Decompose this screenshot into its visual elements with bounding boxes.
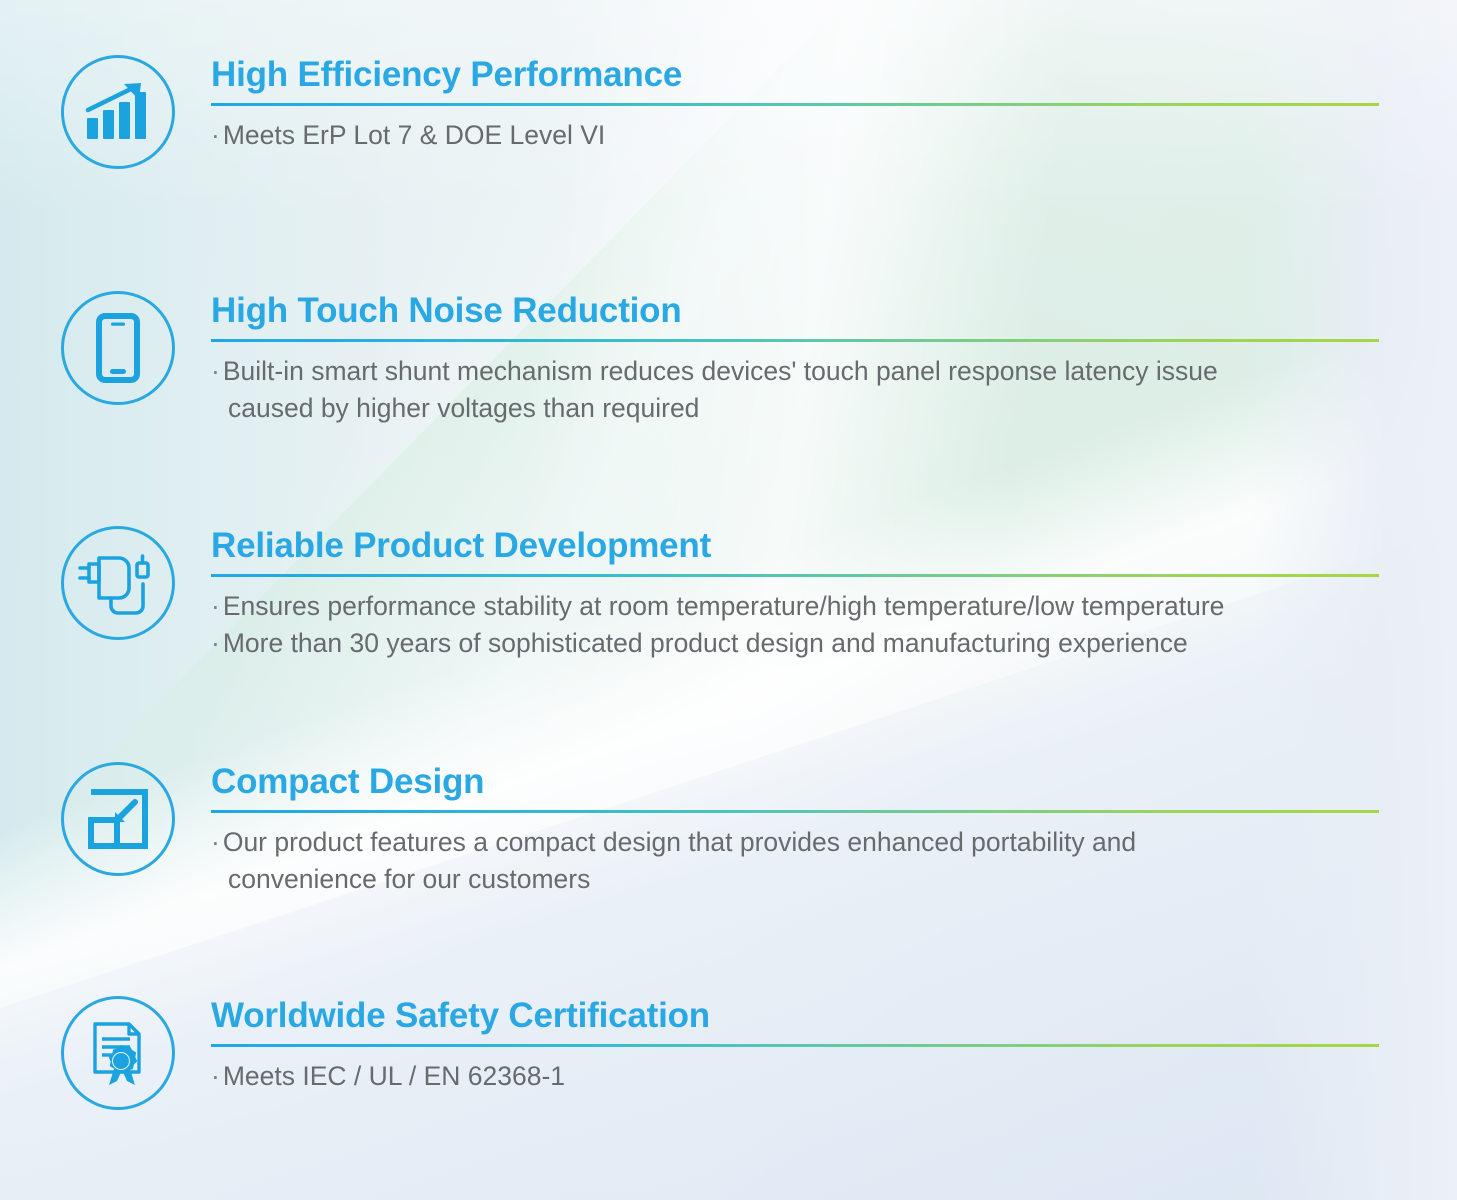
feature-body: Compact Design ·Our product features a c… xyxy=(211,762,1381,898)
feature-divider xyxy=(211,810,1379,813)
feature-body: Reliable Product Development ·Ensures pe… xyxy=(211,526,1381,662)
bullet-dot: · xyxy=(211,827,223,857)
compact-shrink-icon xyxy=(61,762,175,876)
feature-body: Worldwide Safety Certification ·Meets IE… xyxy=(211,996,1381,1095)
bullet-dot: · xyxy=(211,628,223,658)
feature-divider xyxy=(211,103,1379,106)
feature-line-text: More than 30 years of sophisticated prod… xyxy=(223,628,1188,658)
feature-title: Compact Design xyxy=(211,762,1381,802)
feature-description: ·Built-in smart shunt mechanism reduces … xyxy=(211,353,1381,427)
bullet-dot: · xyxy=(211,356,223,386)
feature-line-text: convenience for our customers xyxy=(211,861,590,898)
feature-divider xyxy=(211,574,1379,577)
feature-divider xyxy=(211,1044,1379,1047)
feature-description: ·Meets ErP Lot 7 & DOE Level VI xyxy=(211,117,1381,154)
feature-line-text: Ensures performance stability at room te… xyxy=(223,591,1225,621)
feature-line: convenience for our customers xyxy=(211,861,1381,898)
bullet-dot: · xyxy=(211,591,223,621)
feature-line: ·Meets ErP Lot 7 & DOE Level VI xyxy=(211,117,1381,154)
certificate-seal-icon xyxy=(61,996,175,1110)
feature-description: ·Meets IEC / UL / EN 62368-1 xyxy=(211,1058,1381,1095)
feature-line-text: Built-in smart shunt mechanism reduces d… xyxy=(223,356,1218,386)
feature-line: ·Ensures performance stability at room t… xyxy=(211,588,1381,625)
feature-line: caused by higher voltages than required xyxy=(211,390,1381,427)
feature-body: High Efficiency Performance ·Meets ErP L… xyxy=(211,55,1381,154)
bullet-dot: · xyxy=(211,120,223,150)
smartphone-icon xyxy=(61,291,175,405)
feature-line-text: caused by higher voltages than required xyxy=(211,390,699,427)
feature-line-text: Meets IEC / UL / EN 62368-1 xyxy=(223,1061,565,1091)
feature-title: High Touch Noise Reduction xyxy=(211,291,1381,331)
feature-line: ·Our product features a compact design t… xyxy=(211,824,1381,861)
feature-line-text: Our product features a compact design th… xyxy=(223,827,1136,857)
feature-description: ·Ensures performance stability at room t… xyxy=(211,588,1381,662)
feature-title: Reliable Product Development xyxy=(211,526,1381,566)
feature-line-text: Meets ErP Lot 7 & DOE Level VI xyxy=(223,120,605,150)
feature-description: ·Our product features a compact design t… xyxy=(211,824,1381,898)
feature-line: ·Built-in smart shunt mechanism reduces … xyxy=(211,353,1381,390)
feature-title: High Efficiency Performance xyxy=(211,55,1381,95)
feature-highlights-page: High Efficiency Performance ·Meets ErP L… xyxy=(0,0,1457,1200)
power-adapter-icon xyxy=(61,526,175,640)
feature-divider xyxy=(211,339,1379,342)
bullet-dot: · xyxy=(211,1061,223,1091)
bar-chart-growth-icon xyxy=(61,55,175,169)
feature-title: Worldwide Safety Certification xyxy=(211,996,1381,1036)
feature-line: ·More than 30 years of sophisticated pro… xyxy=(211,625,1381,662)
feature-line: ·Meets IEC / UL / EN 62368-1 xyxy=(211,1058,1381,1095)
feature-body: High Touch Noise Reduction ·Built-in sma… xyxy=(211,291,1381,427)
feature-list: High Efficiency Performance ·Meets ErP L… xyxy=(0,0,1457,1200)
